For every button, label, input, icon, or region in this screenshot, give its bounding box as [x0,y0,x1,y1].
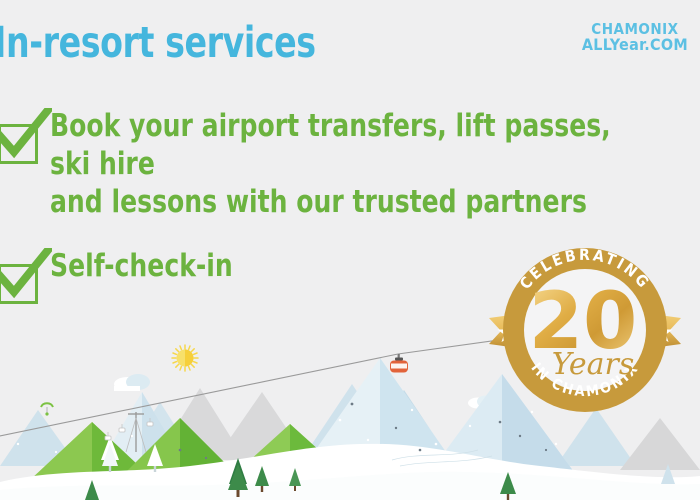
list-item: Self-check-in [0,248,253,308]
page-title: In-resort services [0,22,316,65]
checkbox-checked-icon [0,114,46,168]
chamonix-allyear-logo[interactable]: CHAMONIX ALLYear.COM [582,22,688,54]
slide-canvas: In-resort services CHAMONIX ALLYear.COM … [0,0,700,500]
badge-svg: CELEBRATING IN CHAMONIX 20 Years [487,232,683,422]
logo-line-2: ALLYear.COM [582,37,688,53]
check-mark-icon [0,108,52,164]
list-item-label: Book your airport transfers, lift passes… [50,108,635,221]
badge-script-text: Years [552,347,635,382]
list-item-label: Self-check-in [50,248,233,286]
check-mark-icon [0,248,52,304]
checkbox-checked-icon [0,254,46,308]
anniversary-badge: CELEBRATING IN CHAMONIX 20 Years [487,232,683,422]
list-item: Book your airport transfers, lift passes… [0,108,700,221]
